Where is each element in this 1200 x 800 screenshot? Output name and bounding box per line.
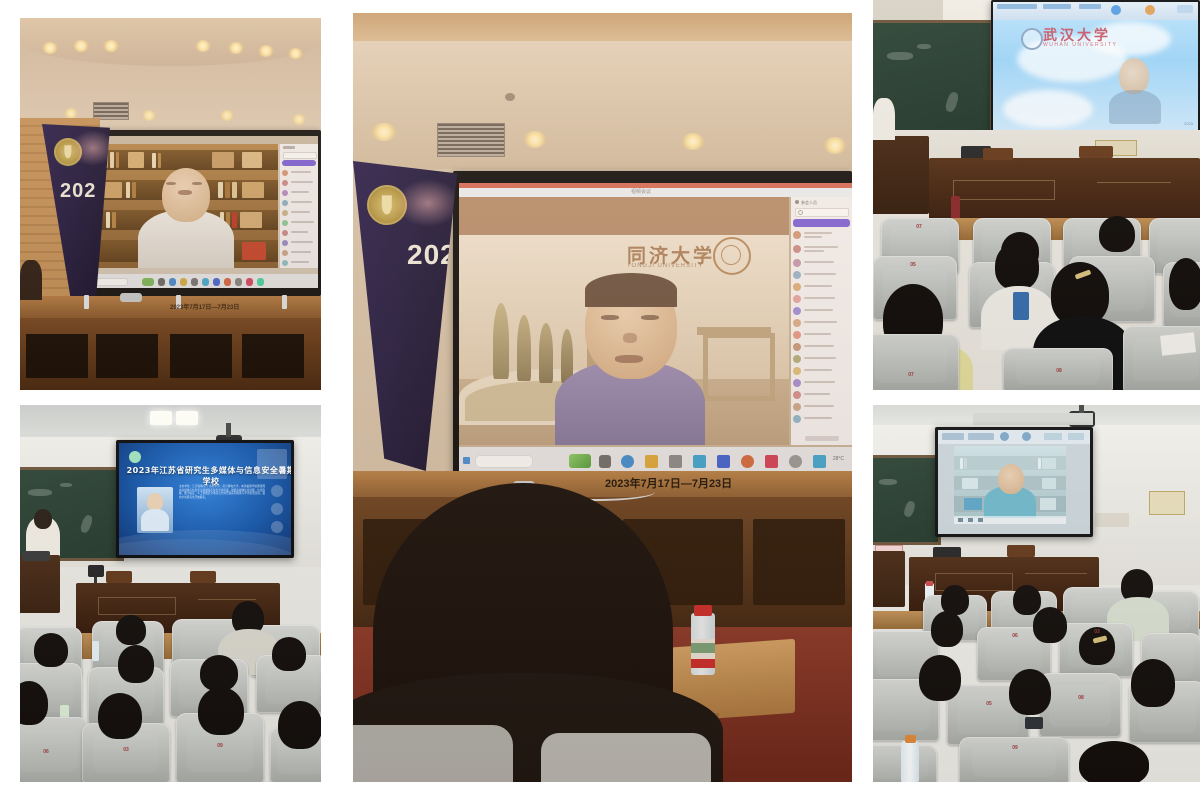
speaker-head	[162, 168, 210, 222]
speaker-torso	[1109, 90, 1161, 124]
seat-tag: 03	[123, 747, 129, 753]
wuhan-emblem-icon	[1021, 28, 1043, 50]
seat-tag: 09	[217, 743, 223, 749]
podium	[20, 555, 60, 613]
panel-bottom-right[interactable]: 06 03 05 08 09	[873, 405, 1200, 782]
invite-button[interactable]	[793, 219, 849, 227]
seat-tag: 06	[1012, 633, 1018, 639]
ceiling-light	[292, 114, 306, 125]
banner-year-label: 202	[60, 180, 96, 203]
seat-tag: 03	[1094, 629, 1100, 635]
windows-taskbar[interactable]	[90, 274, 318, 288]
attendee-silhouette	[20, 260, 42, 300]
seat-tag: 07	[908, 372, 914, 378]
tongji-name-en: TONGJI UNIVERSITY	[627, 263, 704, 269]
weather-indicator[interactable]: 28°C	[833, 456, 844, 462]
slide-logo-icon	[129, 451, 141, 463]
camera-tripod	[88, 565, 104, 577]
app-icon[interactable]	[765, 455, 778, 468]
wall-sign	[1095, 513, 1129, 527]
projection-screen	[938, 430, 1090, 534]
wuhan-name-en: WUHAN UNIVERSITY	[1043, 42, 1117, 48]
microphone	[120, 293, 142, 302]
speaker-head	[1119, 58, 1149, 94]
seat	[20, 717, 88, 782]
app-icon[interactable]	[717, 455, 730, 468]
ceiling-light	[523, 131, 547, 148]
projection-screen: 视频会议 同	[459, 183, 852, 475]
seat	[1039, 673, 1121, 737]
app-icon[interactable]	[789, 455, 802, 468]
taskbar-search[interactable]	[475, 455, 533, 468]
photo-collage: 202 2023年7月17日—7月23日	[0, 0, 1200, 800]
chalkboard	[873, 455, 941, 545]
air-vent	[437, 123, 505, 157]
water-bottle	[92, 641, 99, 661]
participant-pane[interactable]	[280, 144, 318, 268]
podium	[873, 551, 905, 607]
panel-top-left[interactable]: 202 2023年7月17日—7月23日	[20, 18, 321, 390]
seat-tag: 07	[916, 224, 922, 230]
ceiling-light	[258, 45, 274, 57]
ceiling-light	[176, 411, 198, 425]
search-input[interactable]	[795, 208, 849, 217]
host-silhouette	[873, 98, 895, 140]
stage-date-caption: 2023年7月17日—7月23日	[170, 302, 239, 311]
laptop	[22, 551, 50, 561]
participant-pane[interactable]: 参会人员	[791, 197, 852, 445]
seat-tag: 05	[986, 701, 992, 707]
panel-center-main[interactable]: 视频会议 同	[353, 13, 852, 782]
slide-thumbnail	[257, 449, 287, 479]
app-icon[interactable]	[813, 455, 826, 468]
ceiling-light	[42, 42, 58, 54]
seat-tag: 05	[910, 262, 916, 268]
water-bottle	[282, 295, 287, 309]
slide-body-text: 主办单位：江苏省教育厅 承办单位：南京邮电大学。本次暑期学校邀请国内多媒体与信息…	[179, 485, 265, 499]
ceiling-light	[288, 48, 303, 59]
ceiling-light	[195, 40, 211, 52]
start-icon[interactable]	[463, 457, 470, 464]
ceiling-light	[220, 110, 234, 121]
seat-tag: 06	[43, 749, 49, 755]
projection-screen: 2023年江苏省研究生多媒体与信息安全暑期学校 主办单位：江苏省教育厅 承办单位…	[119, 443, 291, 555]
ceiling-light	[371, 123, 397, 141]
projection-screen	[90, 136, 318, 288]
ceiling-light	[150, 411, 172, 425]
speaker-head	[998, 464, 1024, 494]
water-bottle	[84, 295, 89, 309]
seat	[959, 737, 1069, 782]
thermos	[951, 196, 960, 220]
search-icon	[798, 210, 803, 215]
wall-sign	[1149, 491, 1185, 515]
smoke-detector	[505, 93, 515, 101]
panel-top-right[interactable]: 武汉大学 WUHAN UNIVERSITY 2023 07	[873, 0, 1200, 390]
ceiling-light	[142, 110, 156, 121]
phone	[1025, 717, 1043, 729]
app-icon[interactable]	[599, 455, 611, 468]
lanyard	[1013, 292, 1029, 320]
ceiling-light	[73, 40, 89, 52]
app-icon[interactable]	[669, 455, 682, 468]
ceiling-soffit	[20, 18, 321, 66]
ceiling-light	[823, 137, 847, 154]
ceiling-light	[228, 42, 244, 54]
seat-tag: 09	[1012, 745, 1018, 751]
podium	[873, 136, 929, 214]
seat-tag: 08	[1056, 368, 1062, 374]
water-bottle	[901, 741, 919, 782]
app-icon[interactable]	[621, 455, 634, 468]
seat	[873, 334, 959, 390]
app-icon[interactable]	[569, 454, 591, 468]
ceiling-light	[103, 40, 119, 52]
app-icon[interactable]	[741, 455, 754, 468]
ceiling-light	[681, 133, 705, 150]
app-icon[interactable]	[645, 455, 658, 468]
meeting-title: 视频会议	[631, 188, 651, 195]
participants-label: 参会人员	[801, 200, 817, 206]
paper-sheet	[1160, 332, 1196, 355]
person-icon	[795, 200, 799, 204]
panel-bottom-left[interactable]: 2023年江苏省研究生多媒体与信息安全暑期学校 主办单位：江苏省教育厅 承办单位…	[20, 405, 321, 782]
seat-tag: 08	[1078, 695, 1084, 701]
slide-corner-note: 2023	[1184, 121, 1193, 126]
app-icon[interactable]	[693, 455, 706, 468]
projection-screen: 武汉大学 WUHAN UNIVERSITY 2023	[993, 2, 1198, 130]
